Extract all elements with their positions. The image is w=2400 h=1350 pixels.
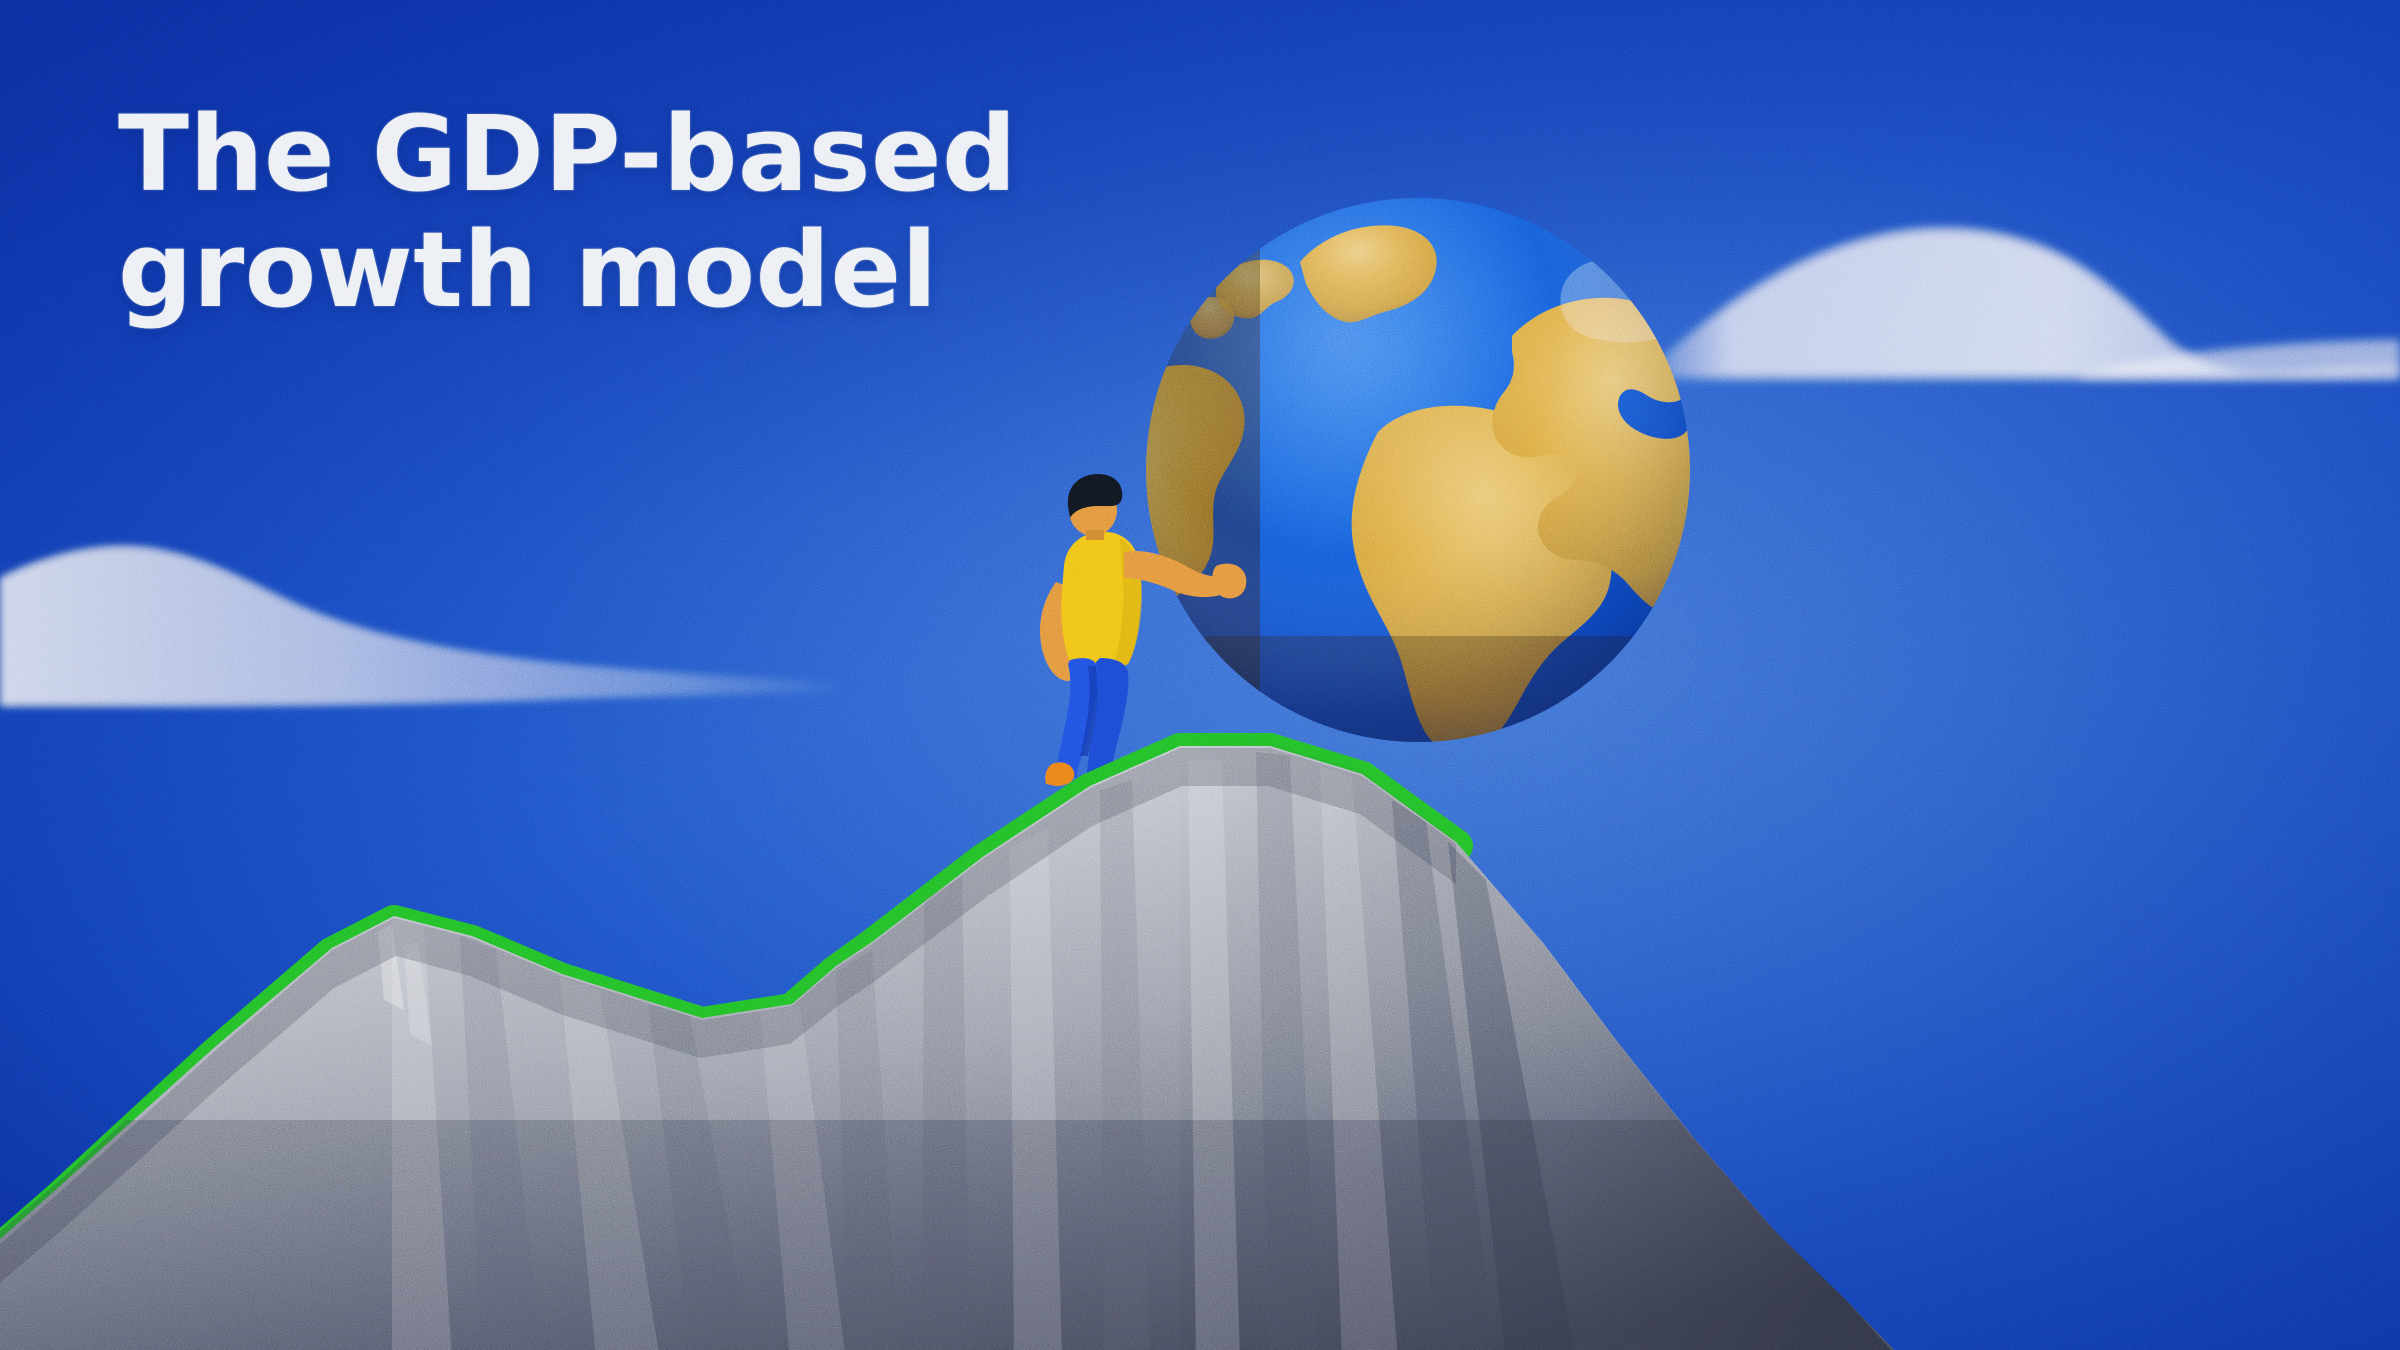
mountain-base-shade: [0, 1120, 1980, 1350]
illustration-canvas: The GDP-based growth model: [0, 0, 2400, 1350]
mountain-layer: [0, 0, 2400, 1350]
